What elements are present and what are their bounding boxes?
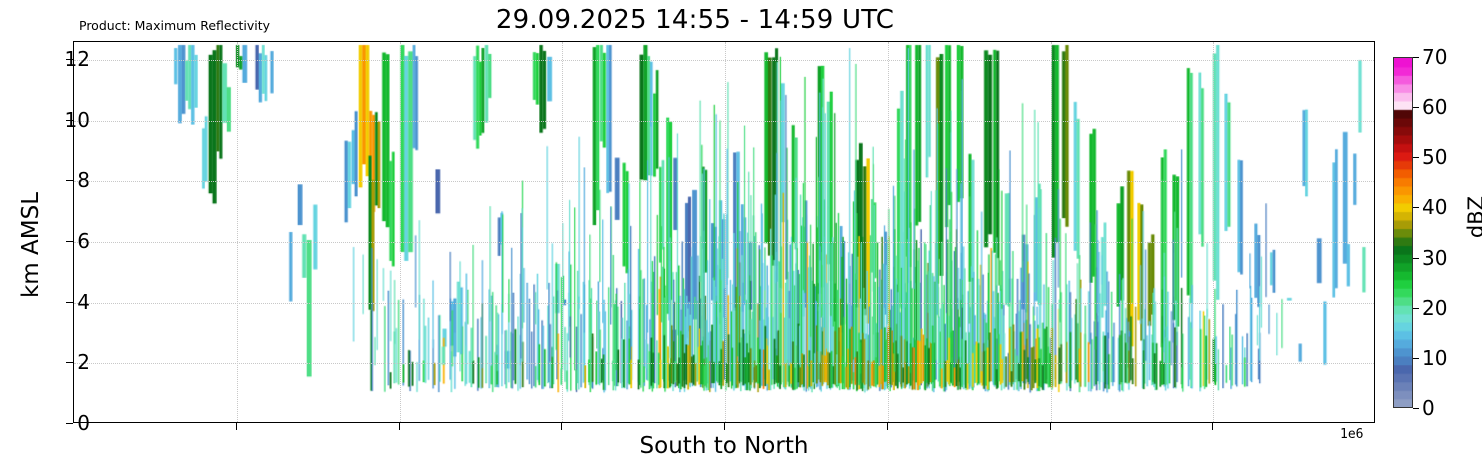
y-tick-label: 0 xyxy=(77,411,90,435)
y-tick-mark xyxy=(66,241,73,242)
product-annotation: Product: Maximum Reflectivity xyxy=(79,18,270,33)
plot-area xyxy=(73,41,1375,423)
colorbar-tick-mark xyxy=(1413,57,1419,58)
colorbar-tick-label: 70 xyxy=(1422,45,1447,69)
colorbar-tick-label: 50 xyxy=(1422,145,1447,169)
colorbar-tick-mark xyxy=(1413,157,1419,158)
y-tick-label: 6 xyxy=(77,229,90,253)
colorbar-tick-label: 40 xyxy=(1422,195,1447,219)
colorbar-tick-mark xyxy=(1413,408,1419,409)
colorbar-label: dBZ xyxy=(1464,147,1482,287)
colorbar-tick-mark xyxy=(1413,358,1419,359)
y-tick-label: 4 xyxy=(77,290,90,314)
colorbar-tick-label: 10 xyxy=(1422,346,1447,370)
colorbar-tick-mark xyxy=(1413,308,1419,309)
colorbar-tick-label: 0 xyxy=(1422,396,1435,420)
y-tick-mark xyxy=(66,423,73,424)
colorbar xyxy=(1393,57,1413,408)
x-tick-mark xyxy=(561,423,562,430)
reflectivity-heatmap-canvas xyxy=(74,42,1374,422)
x-tick-mark xyxy=(724,423,725,430)
x-tick-mark xyxy=(1050,423,1051,430)
colorbar-tick-mark xyxy=(1413,258,1419,259)
colorbar-tick-mark xyxy=(1413,107,1419,108)
y-tick-label: 10 xyxy=(65,108,90,132)
x-tick-mark xyxy=(887,423,888,430)
radar-cross-section-figure: 29.09.2025 14:55 - 14:59 UTC Product: Ma… xyxy=(0,0,1482,470)
y-tick-label: 8 xyxy=(77,168,90,192)
colorbar-tick-label: 60 xyxy=(1422,95,1447,119)
y-tick-mark xyxy=(66,362,73,363)
x-axis-offset-text: 1e6 xyxy=(1340,427,1363,442)
colorbar-tick-label: 30 xyxy=(1422,246,1447,270)
y-tick-label: 2 xyxy=(77,350,90,374)
y-tick-mark xyxy=(66,180,73,181)
colorbar-tick-label: 20 xyxy=(1422,296,1447,320)
colorbar-gradient xyxy=(1393,57,1413,408)
x-tick-mark xyxy=(399,423,400,430)
y-axis-label: km AMSL xyxy=(18,135,44,355)
colorbar-tick-mark xyxy=(1413,207,1419,208)
x-axis-label: South to North xyxy=(73,433,1375,459)
x-tick-mark xyxy=(236,423,237,430)
y-tick-mark xyxy=(66,302,73,303)
y-tick-label: 12 xyxy=(65,47,90,71)
x-tick-mark xyxy=(1212,423,1213,430)
